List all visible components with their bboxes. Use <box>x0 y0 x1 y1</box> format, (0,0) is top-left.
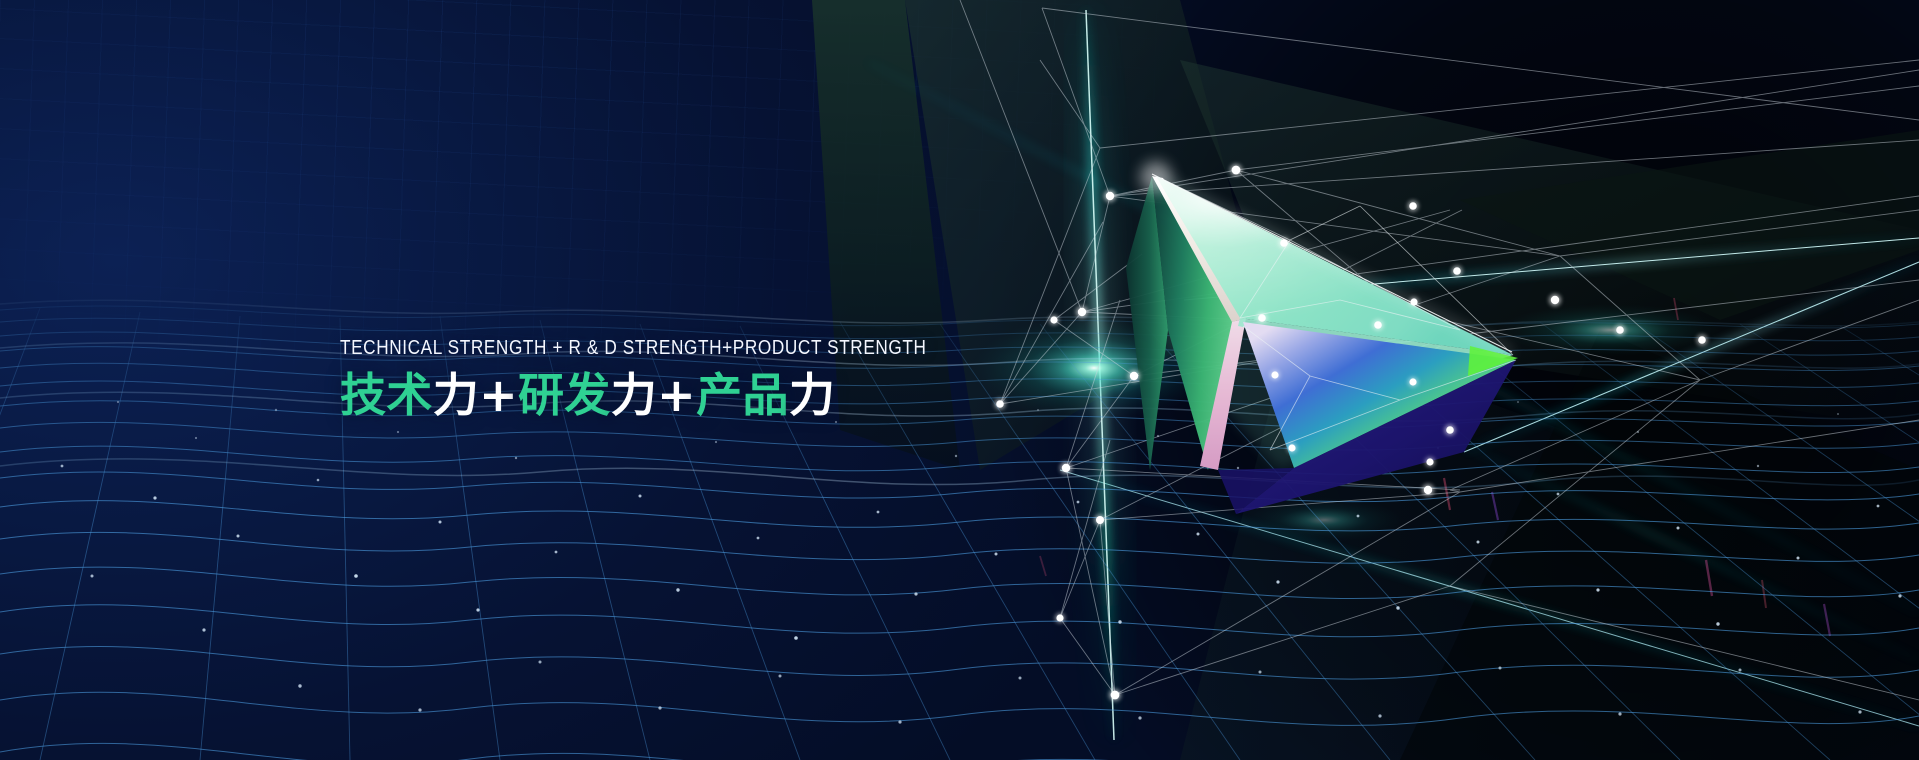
headline-seg-3: 研发 <box>518 368 611 422</box>
headline-seg-4: 力 <box>611 368 657 422</box>
headline-seg-0: 技术 <box>340 368 433 422</box>
eyebrow-text: TECHNICAL STRENGTH + R & D STRENGTH+PROD… <box>340 338 927 358</box>
hero-text-block: TECHNICAL STRENGTH + R & D STRENGTH+PROD… <box>340 338 1022 420</box>
headline-seg-2: + <box>479 368 518 422</box>
headline: 技术力+研发力+产品力 <box>340 371 1022 420</box>
headline-seg-6: 产品 <box>696 368 789 422</box>
headline-seg-1: 力 <box>433 368 479 422</box>
hero-banner: TECHNICAL STRENGTH + R & D STRENGTH+PROD… <box>0 0 1919 760</box>
headline-seg-7: 力 <box>789 368 835 422</box>
headline-seg-5: + <box>657 368 696 422</box>
